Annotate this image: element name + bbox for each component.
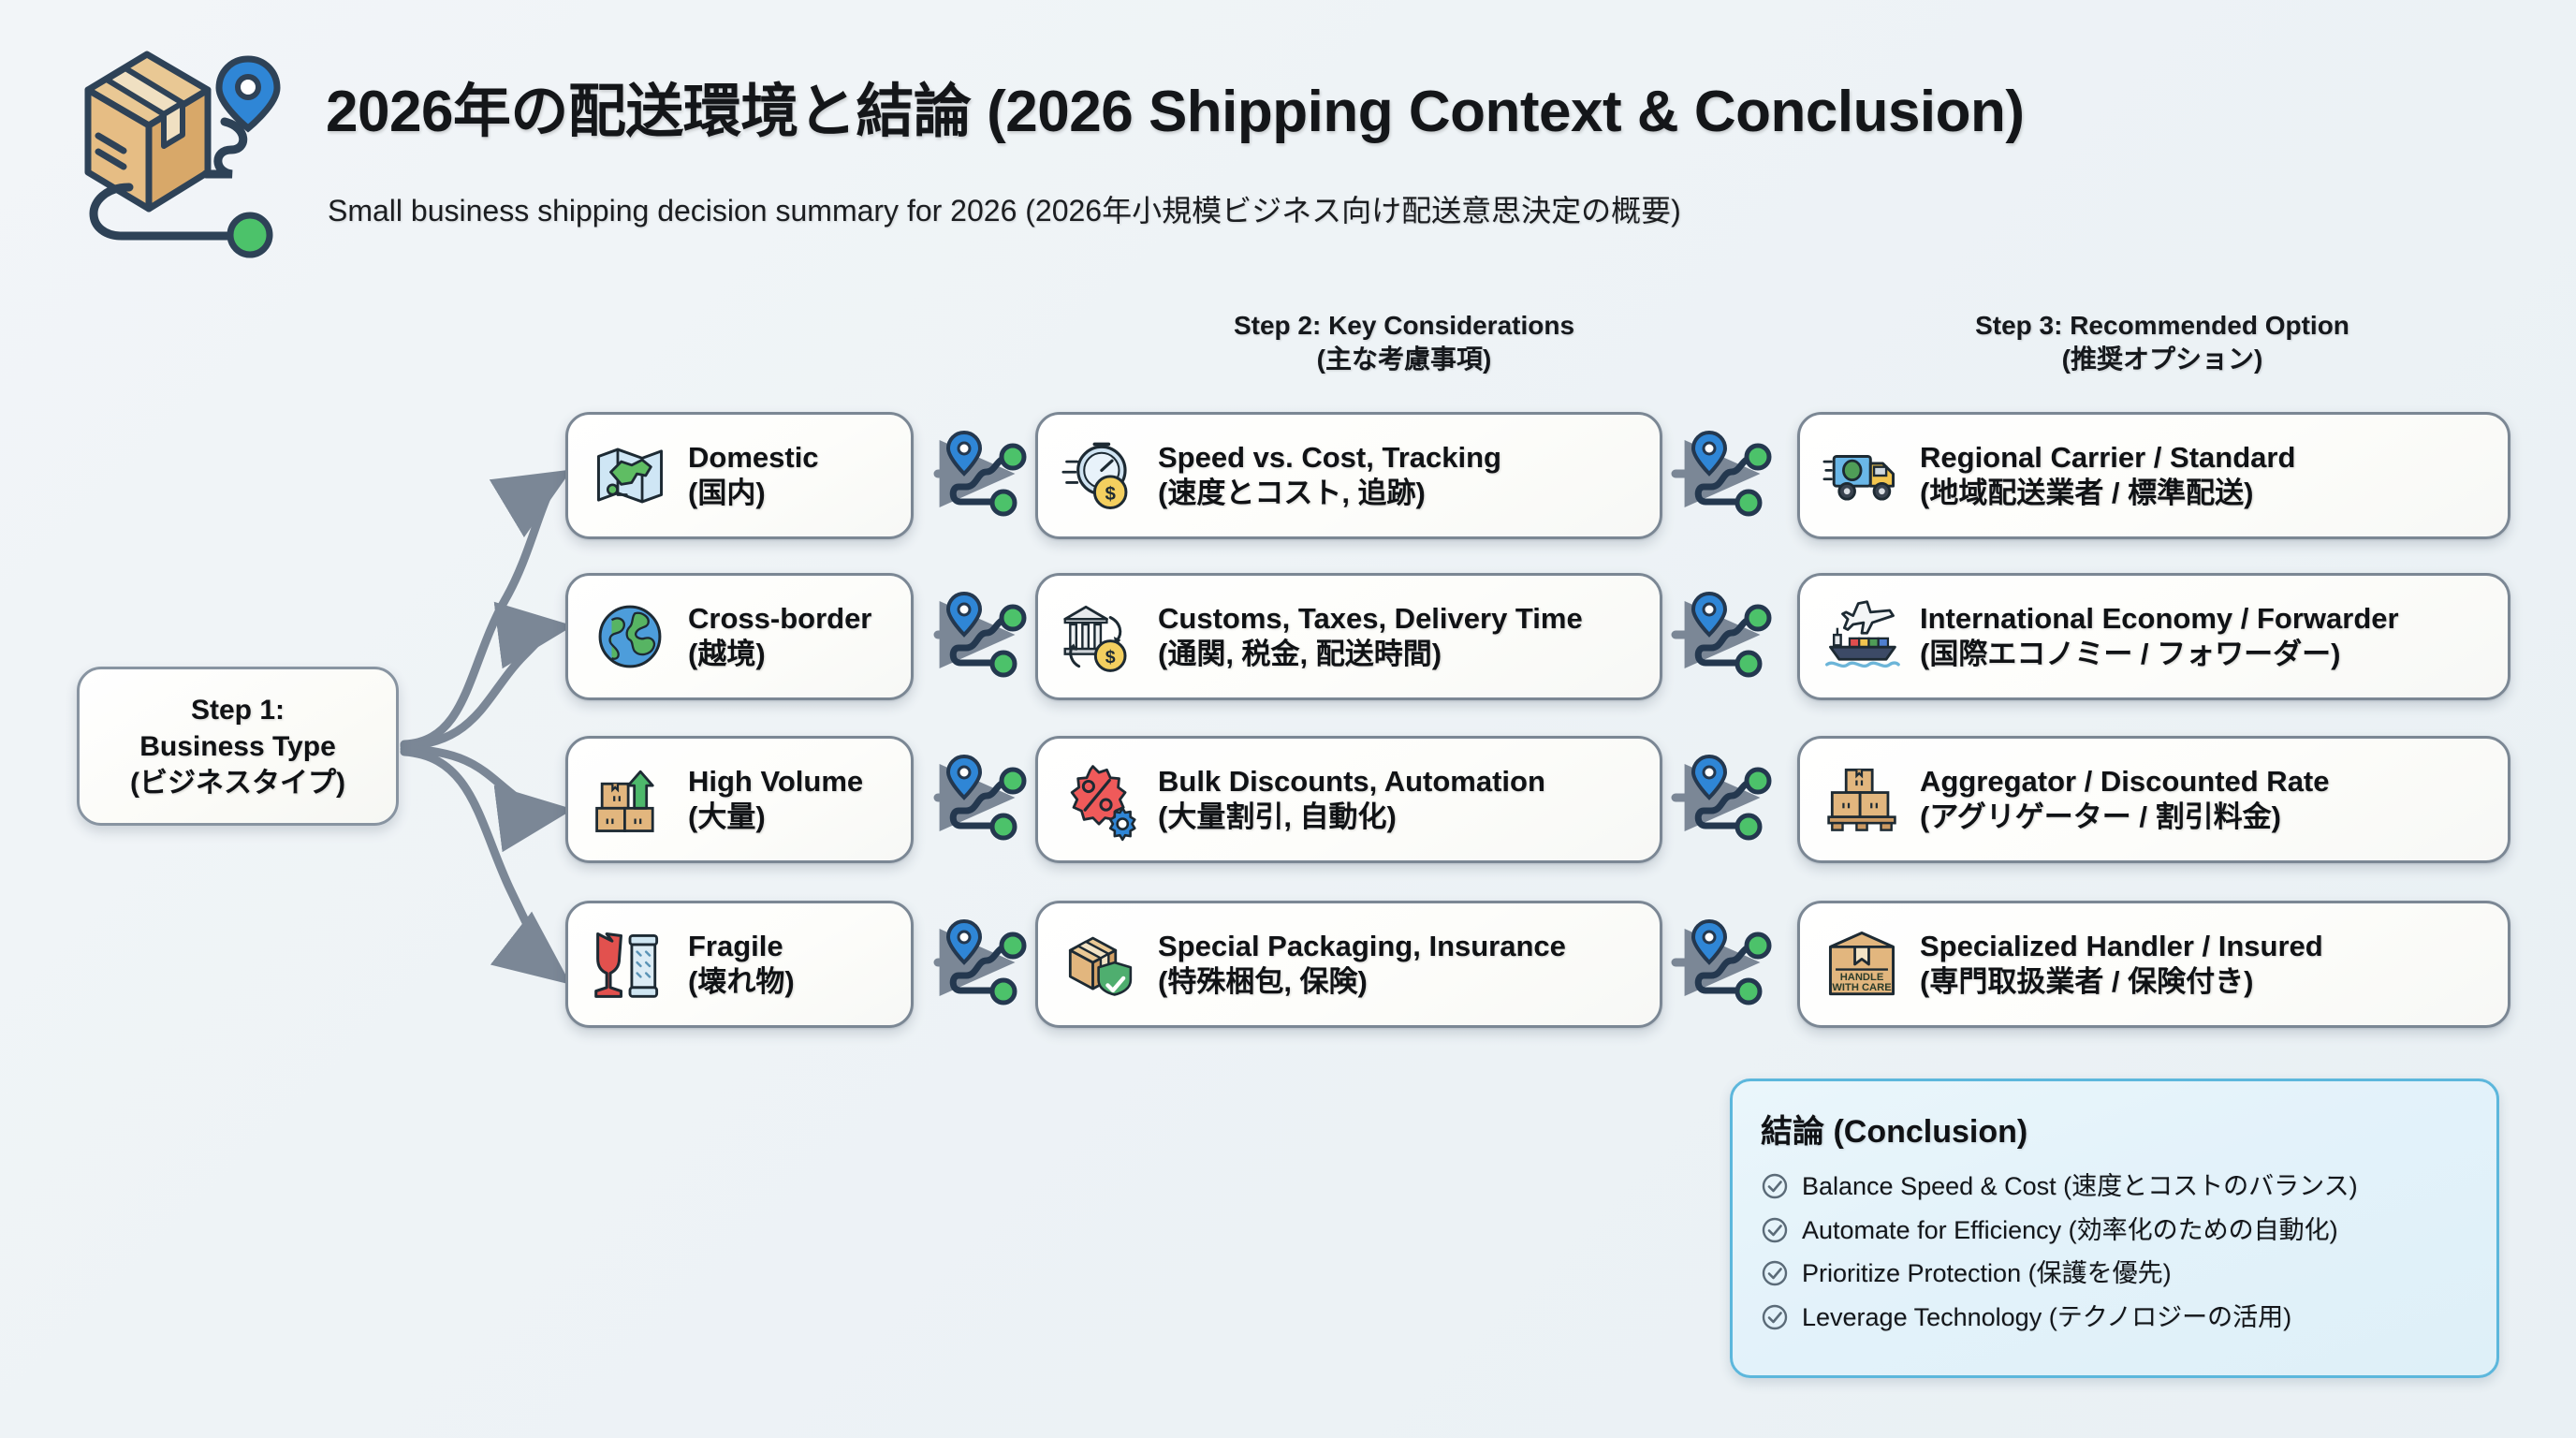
node-consideration-special-packaging-en: Special Packaging, Insurance: [1158, 929, 1566, 964]
delivery-truck-icon: [1821, 434, 1903, 517]
node-type-cross-border[interactable]: Cross-border (越境): [565, 573, 914, 700]
node-consideration-customs-ja: (通関, 税金, 配送時間): [1158, 637, 1583, 672]
check-circle-icon: [1761, 1259, 1789, 1287]
node-type-high-volume-text: High Volume (大量): [688, 764, 863, 835]
node-option-international-economy-text: International Economy / Forwarder (国際エコノ…: [1920, 601, 2399, 672]
check-circle-icon: [1761, 1172, 1789, 1200]
list-item: Balance Speed & Cost (速度とコストのバランス): [1761, 1165, 2468, 1209]
conclusion-item-text: Balance Speed & Cost (速度とコストのバランス): [1802, 1167, 2358, 1206]
page-subtitle: Small business shipping decision summary…: [328, 187, 1681, 230]
node-option-regional-carrier[interactable]: Regional Carrier / Standard (地域配送業者 / 標準…: [1797, 412, 2510, 539]
node-type-fragile-en: Fragile: [688, 929, 795, 964]
customs-bank-coin-icon: $: [1059, 595, 1141, 678]
route-connector-group-1: [938, 433, 1024, 1003]
node-consideration-bulk-discounts[interactable]: Bulk Discounts, Automation (大量割引, 自動化): [1035, 736, 1662, 863]
node-type-domestic-en: Domestic: [688, 440, 819, 476]
conclusion-list: Balance Speed & Cost (速度とコストのバランス) Autom…: [1761, 1165, 2468, 1339]
node-consideration-special-packaging-text: Special Packaging, Insurance (特殊梱包, 保険): [1158, 929, 1566, 1000]
route-connector-group-2: [1676, 433, 1769, 1003]
node-consideration-bulk-discounts-ja: (大量割引, 自動化): [1158, 800, 1545, 835]
node-option-specialized-handler[interactable]: HANDLE WITH CARE Specialized Handler / I…: [1797, 901, 2510, 1028]
globe-icon: [589, 595, 671, 678]
node-option-specialized-handler-en: Specialized Handler / Insured: [1920, 929, 2323, 964]
handle-with-care-box-icon: HANDLE WITH CARE: [1821, 923, 1903, 1005]
conclusion-item-text: Automate for Efficiency (効率化のための自動化): [1802, 1211, 2338, 1250]
node-consideration-special-packaging[interactable]: Special Packaging, Insurance (特殊梱包, 保険): [1035, 901, 1662, 1028]
node-option-aggregator-ja: (アグリゲーター / 割引料金): [1920, 800, 2330, 835]
node-consideration-customs-text: Customs, Taxes, Delivery Time (通関, 税金, 配…: [1158, 601, 1583, 672]
node-consideration-special-packaging-ja: (特殊梱包, 保険): [1158, 964, 1566, 1000]
page-title: 2026年の配送環境と結論 (2026 Shipping Context & C…: [326, 64, 2025, 148]
node-type-cross-border-en: Cross-border: [688, 601, 871, 637]
node-consideration-bulk-discounts-en: Bulk Discounts, Automation: [1158, 764, 1545, 800]
root-line-2: Business Type: [139, 728, 336, 765]
node-option-aggregator-text: Aggregator / Discounted Rate (アグリゲーター / …: [1920, 764, 2330, 835]
root-line-3: (ビジネスタイプ): [130, 765, 345, 801]
node-option-regional-carrier-ja: (地域配送業者 / 標準配送): [1920, 476, 2295, 511]
svg-text:$: $: [1105, 647, 1116, 668]
column-header-step3-en: Step 3: Recommended Option: [1975, 311, 2349, 340]
discount-gear-icon: [1059, 758, 1141, 841]
node-type-high-volume-ja: (大量): [688, 800, 863, 835]
node-consideration-bulk-discounts-text: Bulk Discounts, Automation (大量割引, 自動化): [1158, 764, 1545, 835]
column-header-step2-en: Step 2: Key Considerations: [1234, 311, 1574, 340]
list-item: Leverage Technology (テクノロジーの活用): [1761, 1296, 2468, 1340]
pallet-boxes-icon: [1821, 758, 1903, 841]
conclusion-title: 結論 (Conclusion): [1761, 1106, 2468, 1152]
node-option-specialized-handler-text: Specialized Handler / Insured (専門取扱業者 / …: [1920, 929, 2323, 1000]
node-type-fragile-ja: (壊れ物): [688, 964, 795, 1000]
root-line-1: Step 1:: [191, 692, 285, 728]
node-consideration-speed-cost-en: Speed vs. Cost, Tracking: [1158, 440, 1501, 476]
node-type-domestic-text: Domestic (国内): [688, 440, 819, 511]
node-type-domestic-ja: (国内): [688, 476, 819, 511]
infographic-canvas: 2026年の配送環境と結論 (2026 Shipping Context & C…: [0, 0, 2576, 1438]
node-option-international-economy-ja: (国際エコノミー / フォワーダー): [1920, 637, 2399, 672]
conclusion-panel: 結論 (Conclusion) Balance Speed & Cost (速度…: [1730, 1078, 2499, 1378]
node-type-domestic[interactable]: Domestic (国内): [565, 412, 914, 539]
svg-text:WITH CARE: WITH CARE: [1832, 982, 1892, 993]
plane-cargo-ship-icon: [1821, 595, 1903, 678]
node-type-high-volume[interactable]: High Volume (大量): [565, 736, 914, 863]
node-type-fragile[interactable]: Fragile (壊れ物): [565, 901, 914, 1028]
node-option-aggregator[interactable]: Aggregator / Discounted Rate (アグリゲーター / …: [1797, 736, 2510, 863]
folded-map-icon: [589, 434, 671, 517]
node-type-fragile-text: Fragile (壊れ物): [688, 929, 795, 1000]
node-type-cross-border-ja: (越境): [688, 637, 871, 672]
check-circle-icon: [1761, 1303, 1789, 1331]
list-item: Automate for Efficiency (効率化のための自動化): [1761, 1209, 2468, 1253]
column-header-step3: Step 3: Recommended Option (推奨オプション): [1778, 309, 2546, 376]
node-consideration-speed-cost[interactable]: $ Speed vs. Cost, Tracking (速度とコスト, 追跡): [1035, 412, 1662, 539]
conclusion-item-text: Leverage Technology (テクノロジーの活用): [1802, 1299, 2291, 1337]
column-header-step3-ja: (推奨オプション): [1778, 343, 2546, 376]
node-consideration-customs-en: Customs, Taxes, Delivery Time: [1158, 601, 1583, 637]
list-item: Prioritize Protection (保護を優先): [1761, 1252, 2468, 1296]
node-consideration-speed-cost-text: Speed vs. Cost, Tracking (速度とコスト, 追跡): [1158, 440, 1501, 511]
node-type-high-volume-en: High Volume: [688, 764, 863, 800]
node-option-specialized-handler-ja: (専門取扱業者 / 保険付き): [1920, 964, 2323, 1000]
check-circle-icon: [1761, 1216, 1789, 1244]
node-step1-business-type[interactable]: Step 1: Business Type (ビジネスタイプ): [77, 667, 399, 826]
broken-glass-fragile-icon: [589, 923, 671, 1005]
node-option-regional-carrier-en: Regional Carrier / Standard: [1920, 440, 2295, 476]
package-route-pin-icon: [58, 36, 292, 251]
node-consideration-speed-cost-ja: (速度とコスト, 追跡): [1158, 476, 1501, 511]
conclusion-item-text: Prioritize Protection (保護を優先): [1802, 1255, 2172, 1293]
svg-text:HANDLE: HANDLE: [1840, 972, 1884, 983]
stopwatch-coin-icon: $: [1059, 434, 1141, 517]
svg-text:$: $: [1105, 483, 1116, 505]
node-consideration-customs[interactable]: $ Customs, Taxes, Delivery Time (通関, 税金,…: [1035, 573, 1662, 700]
node-option-international-economy-en: International Economy / Forwarder: [1920, 601, 2399, 637]
node-option-aggregator-en: Aggregator / Discounted Rate: [1920, 764, 2330, 800]
column-header-step2-ja: (主な考慮事項): [1030, 343, 1778, 376]
column-header-step2: Step 2: Key Considerations (主な考慮事項): [1030, 309, 1778, 376]
node-type-cross-border-text: Cross-border (越境): [688, 601, 871, 672]
page-header: 2026年の配送環境と結論 (2026 Shipping Context & C…: [0, 0, 2576, 281]
shielded-box-icon: [1059, 923, 1141, 1005]
node-option-regional-carrier-text: Regional Carrier / Standard (地域配送業者 / 標準…: [1920, 440, 2295, 511]
stacked-boxes-arrow-icon: [589, 758, 671, 841]
node-option-international-economy[interactable]: International Economy / Forwarder (国際エコノ…: [1797, 573, 2510, 700]
